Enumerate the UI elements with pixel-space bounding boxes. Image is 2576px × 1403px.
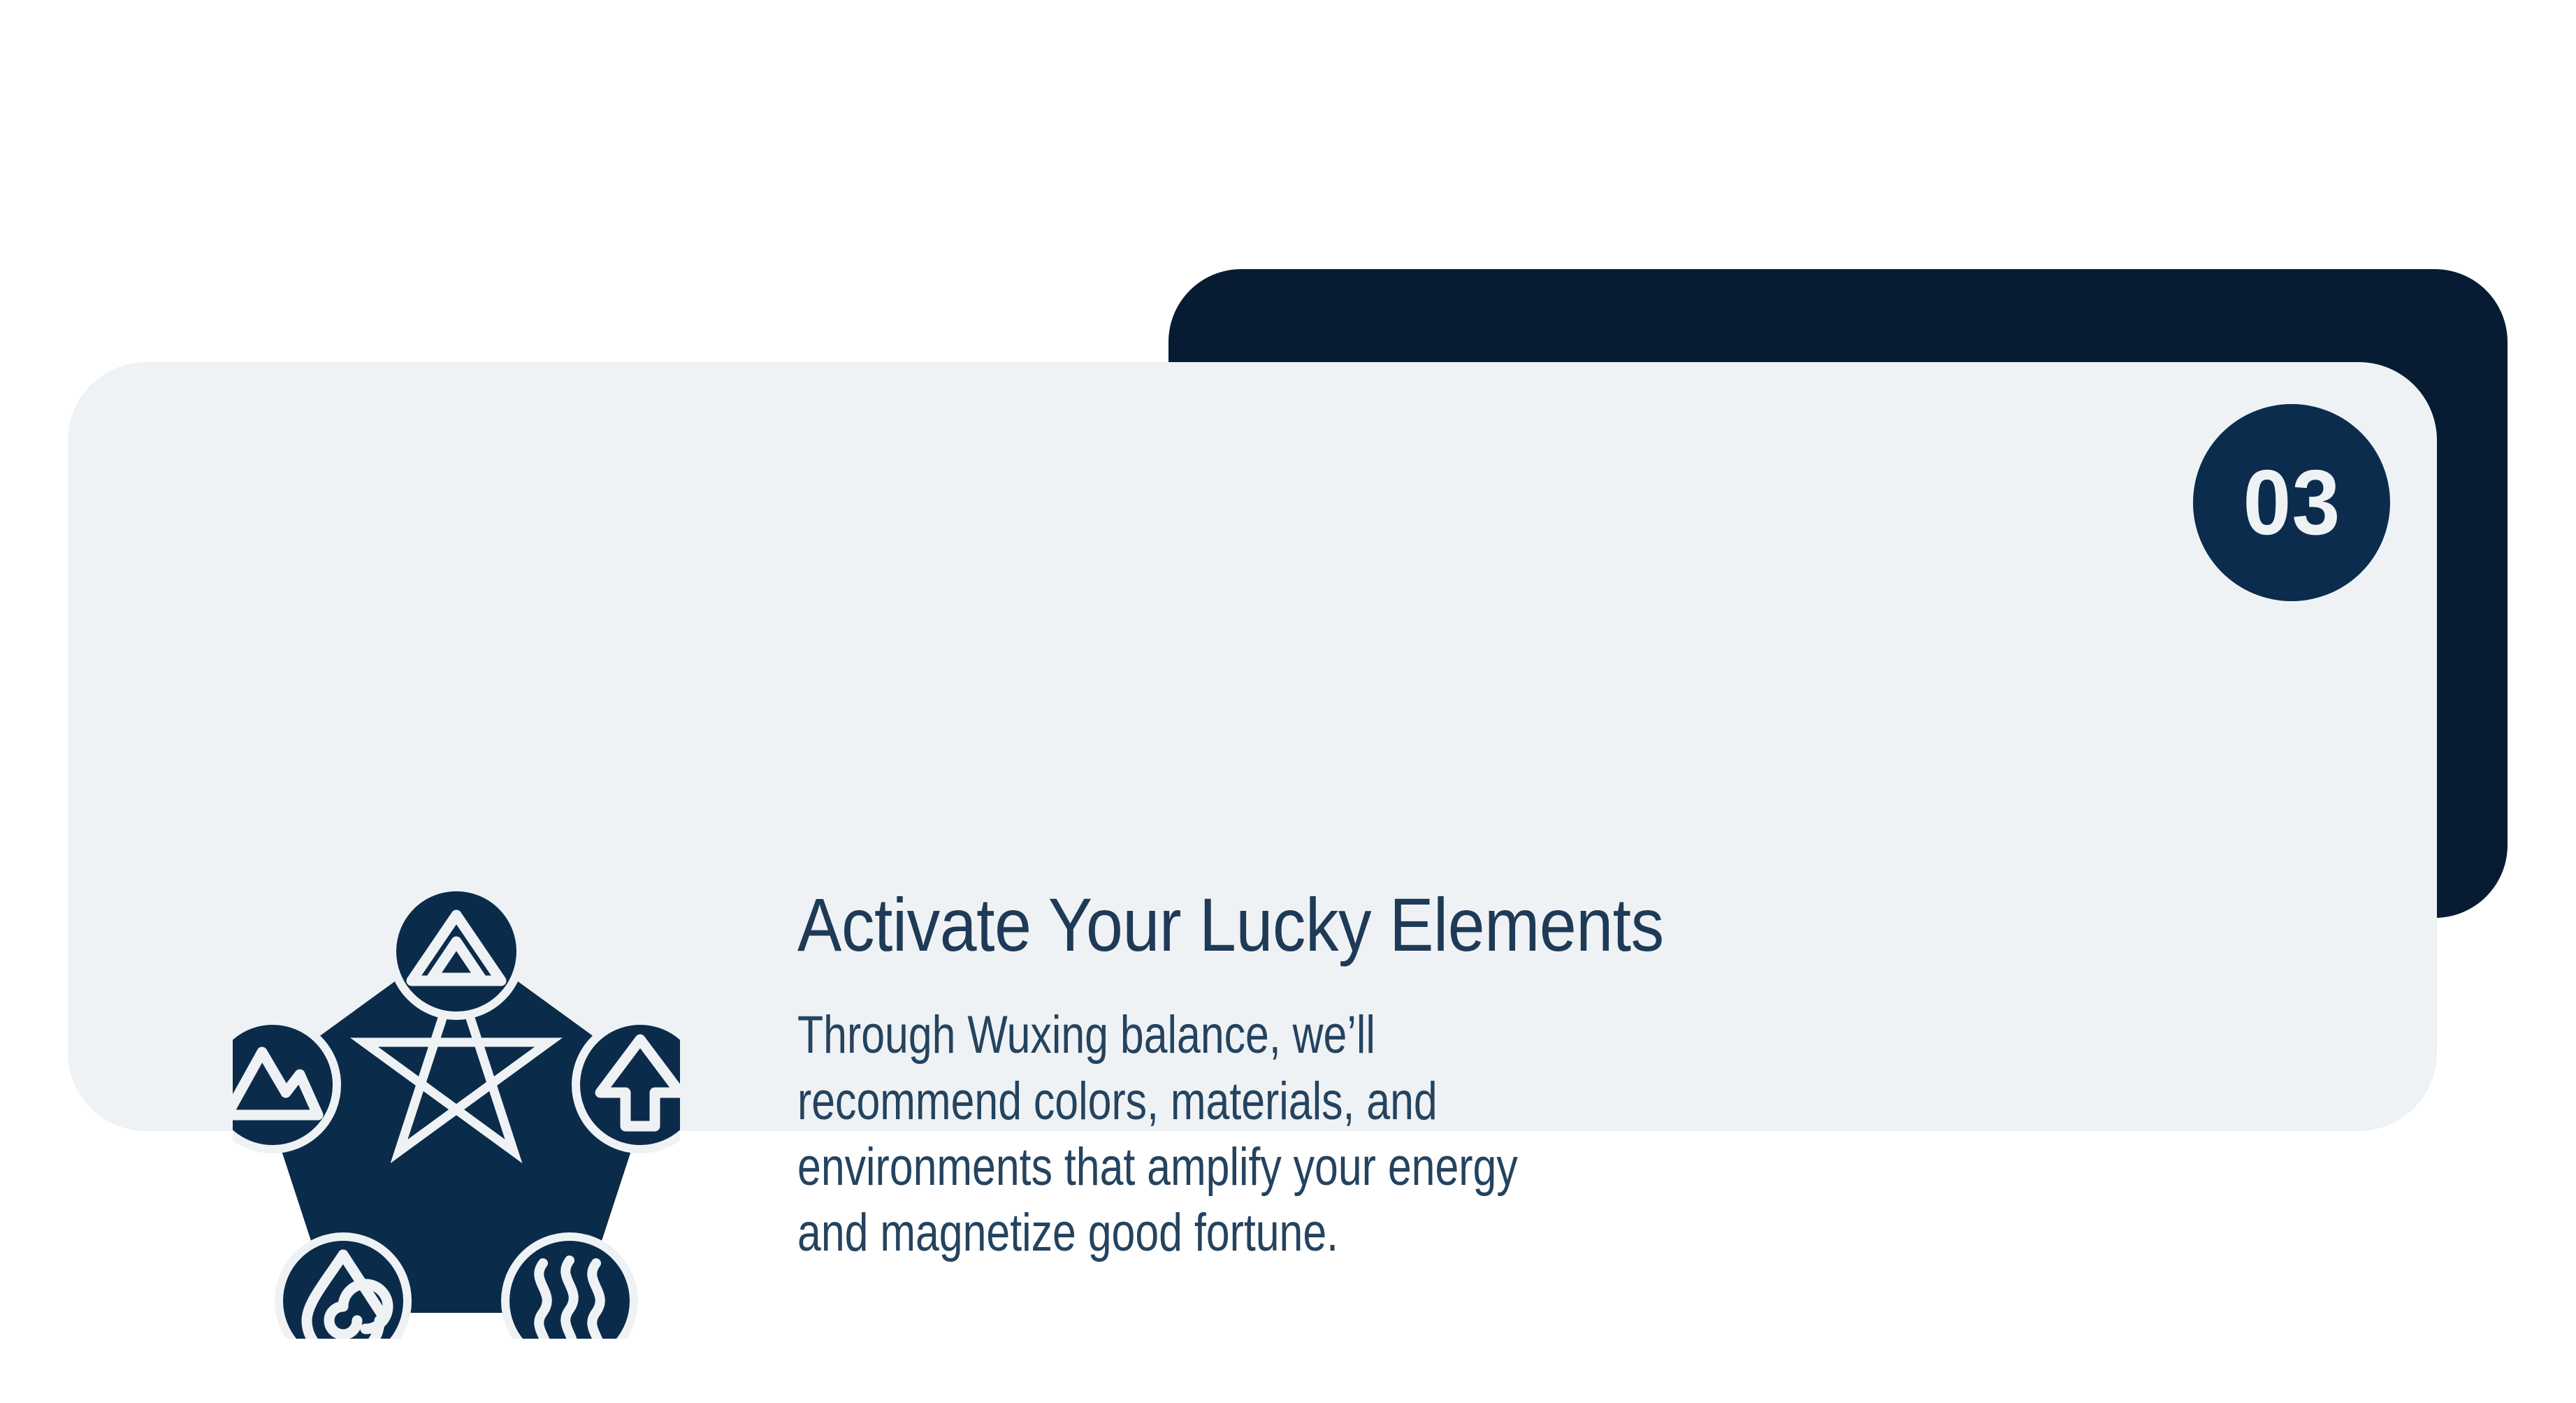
feature-card: Activate Your Lucky Elements Through Wux… [68,362,2437,1131]
body-line: Through Wuxing balance, we’ll [797,1002,1714,1068]
slide-canvas: Activate Your Lucky Elements Through Wux… [0,0,2576,1403]
wuxing-five-elements-pentagram-icon [233,891,680,1339]
node-fire [392,891,521,1016]
status-badge: 03 [2193,404,2390,601]
card-description: Through Wuxing balance, we’ll recommend … [797,965,1714,1266]
node-water [279,1237,407,1339]
page-title: Activate Your Lucky Elements [797,885,2003,965]
body-line: recommend colors, materials, and [797,1069,1714,1135]
node-earth [233,1021,337,1149]
body-line: environments that amplify your energy [797,1135,1714,1200]
card-text-block: Activate Your Lucky Elements Through Wux… [797,885,2167,1266]
badge-number: 03 [2243,456,2340,549]
node-wood [576,1021,680,1149]
node-metal [505,1237,634,1339]
body-line: and magnetize good fortune. [797,1200,1714,1266]
